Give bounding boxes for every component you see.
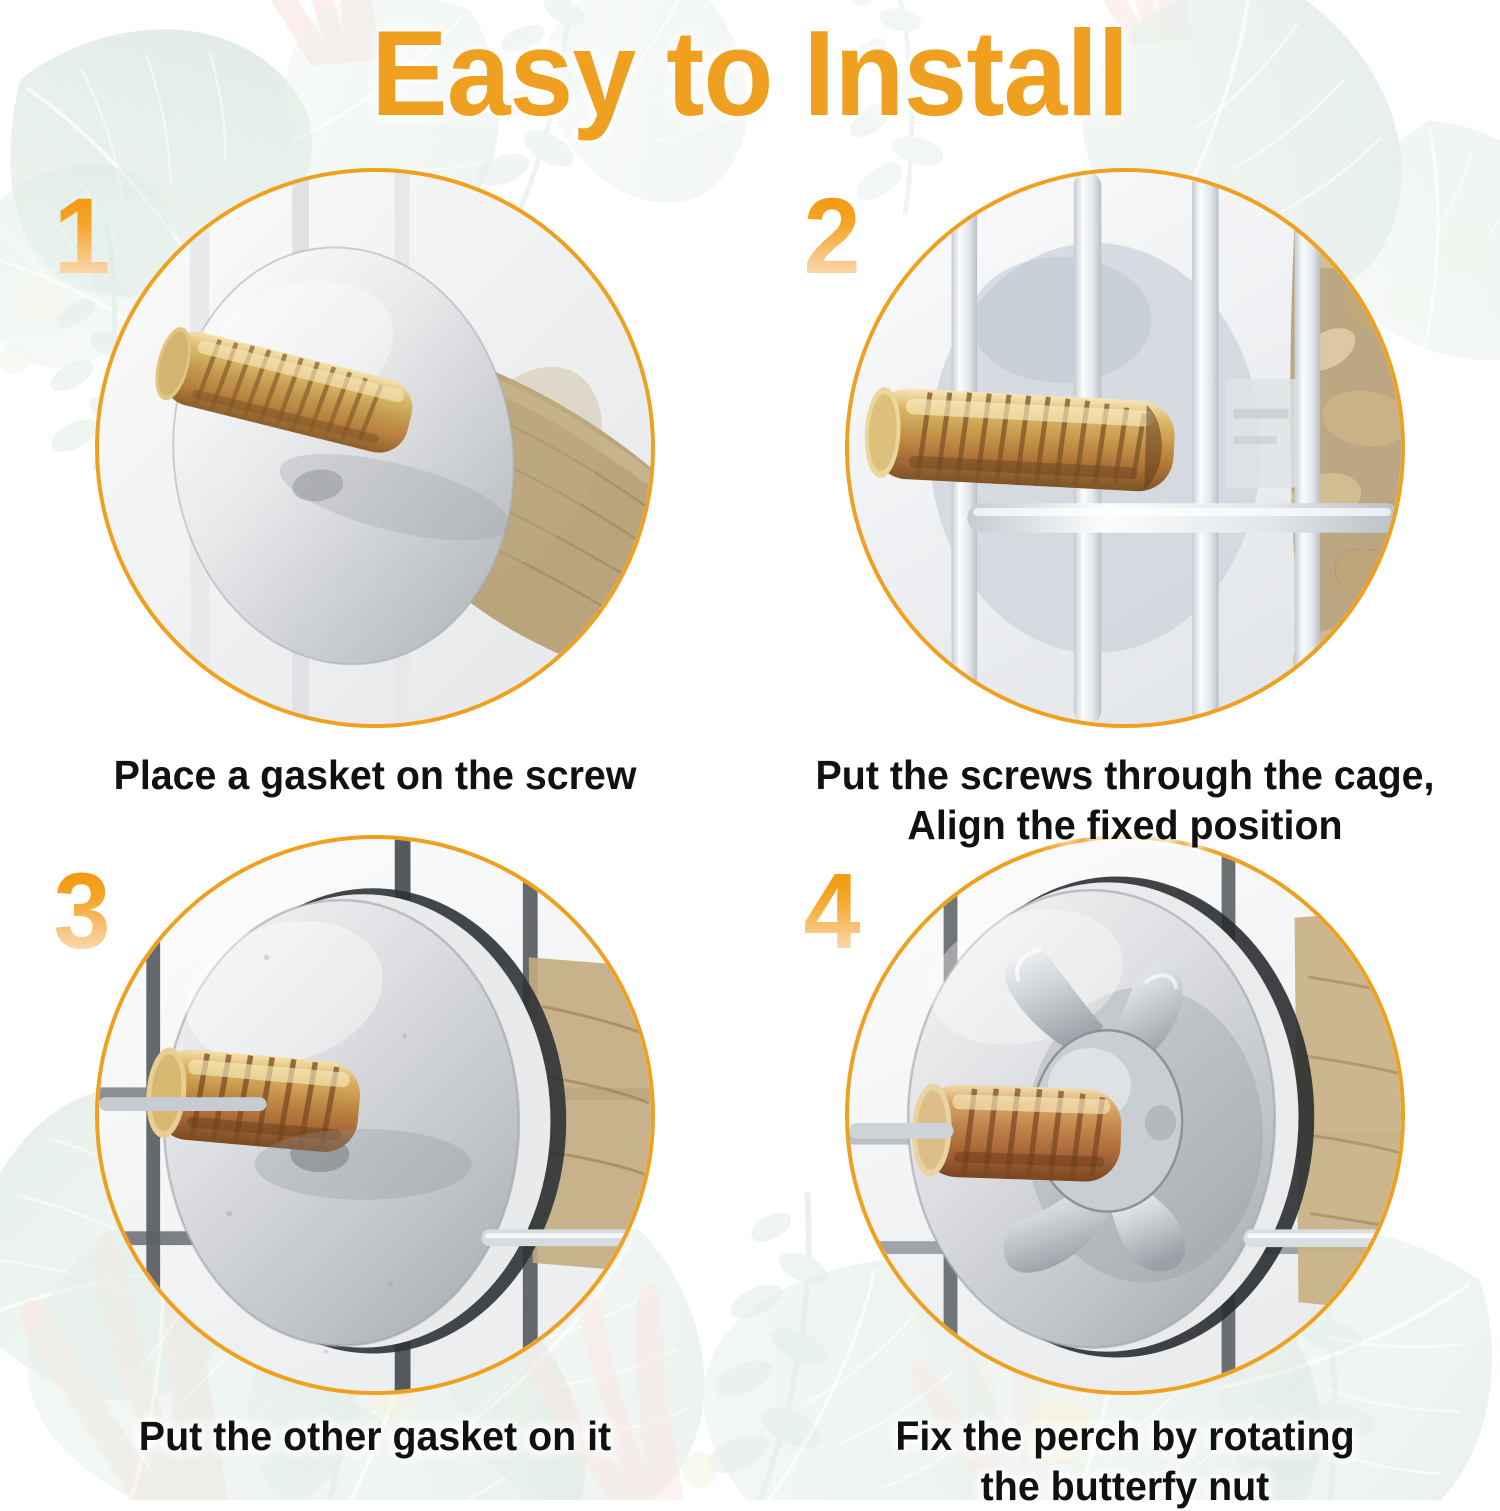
install-step-4: 4 xyxy=(750,825,1500,1500)
step-2-photo xyxy=(849,172,1401,724)
install-step-1: 1 xyxy=(0,150,750,825)
step-2-photo-frame xyxy=(845,168,1405,728)
page-title-container: Easy to Install xyxy=(0,8,1500,138)
step-1-photo-frame xyxy=(95,168,655,728)
step-1-photo xyxy=(99,172,651,724)
step-3-photo-frame xyxy=(95,835,655,1395)
install-step-2: 2 xyxy=(750,150,1500,825)
step-number-4: 4 xyxy=(804,857,861,965)
step-number-2: 2 xyxy=(804,182,861,290)
step-3-photo xyxy=(99,839,651,1391)
step-4-photo-frame xyxy=(845,835,1405,1395)
install-step-3: 3 xyxy=(0,825,750,1500)
step-4-caption: Fix the perch by rotating the butterfy n… xyxy=(765,1411,1485,1511)
step-2-caption: Put the screws through the cage, Align t… xyxy=(765,750,1485,850)
step-number-1: 1 xyxy=(54,182,111,290)
step-number-3: 3 xyxy=(54,857,111,965)
step-4-photo xyxy=(849,839,1401,1391)
install-steps-grid: 1 xyxy=(0,150,1500,1500)
step-1-caption: Place a gasket on the screw xyxy=(15,750,735,800)
step-3-caption: Put the other gasket on it xyxy=(15,1411,735,1461)
page-title: Easy to Install xyxy=(371,3,1128,143)
